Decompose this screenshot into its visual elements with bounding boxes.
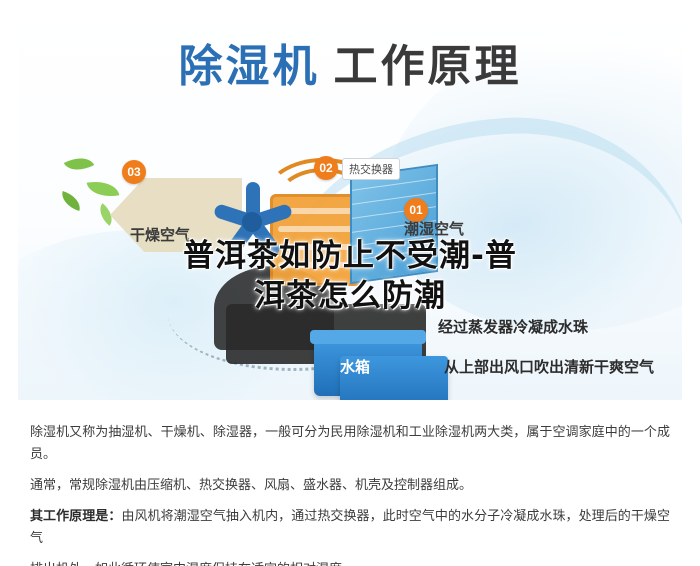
description-block: 除湿机又称为抽湿机、干燥机、除湿器，一般可分为民用除湿机和工业除湿机两大类，属于… — [0, 408, 700, 566]
illustration-panel: 除湿机工作原理 — [0, 0, 700, 408]
fan-hub — [242, 212, 262, 232]
diagram-title: 除湿机工作原理 — [18, 30, 682, 94]
description-principle-label: 其工作原理是： — [30, 509, 121, 524]
page-root: 除湿机工作原理 — [0, 0, 700, 566]
description-paragraph-1: 除湿机又称为抽湿机、干燥机、除湿器，一般可分为民用除湿机和工业除湿机两大类，属于… — [30, 422, 670, 466]
evaporator-fin — [352, 178, 436, 191]
step-badge-02: 02 — [314, 156, 338, 180]
label-water-tank: 水箱 — [340, 356, 448, 400]
step-badge-03-left: 03 — [122, 160, 146, 184]
label-step-02-text: 经过蒸发器冷凝成水珠 — [438, 316, 588, 337]
heat-exchanger-tag: 热交换器 — [342, 158, 400, 180]
leaf-icon — [58, 191, 83, 211]
leaf-icon — [87, 178, 120, 201]
fan-icon — [204, 174, 300, 270]
title-part-1: 除湿机 — [179, 41, 320, 92]
illustration-canvas: 除湿机工作原理 — [18, 8, 682, 400]
title-part-2: 工作原理 — [334, 41, 522, 92]
leaf-icon — [64, 151, 94, 177]
description-paragraph-2: 通常，常规除湿机由压缩机、热交换器、风扇、盛水器、机壳及控制器组成。 — [30, 475, 670, 497]
description-paragraph-4: 排出机外，如此循环使室内湿度保持在适宜的相对湿度。 — [30, 559, 670, 566]
description-paragraph-3: 其工作原理是：由风机将潮湿空气抽入机内，通过热交换器，此时空气中的水分子冷凝成水… — [30, 506, 670, 550]
label-step-03-text: 从上部出风口吹出清新干爽空气 — [444, 356, 654, 377]
description-principle-text: 由风机将潮湿空气抽入机内，通过热交换器，此时空气中的水分子冷凝成水珠，处理后的干… — [30, 509, 670, 546]
water-tank-lid — [310, 330, 426, 344]
evaporator-fin — [352, 248, 436, 261]
label-dry-air: 干燥空气 — [130, 224, 190, 245]
label-humid-air: 潮湿空气 — [404, 218, 464, 239]
